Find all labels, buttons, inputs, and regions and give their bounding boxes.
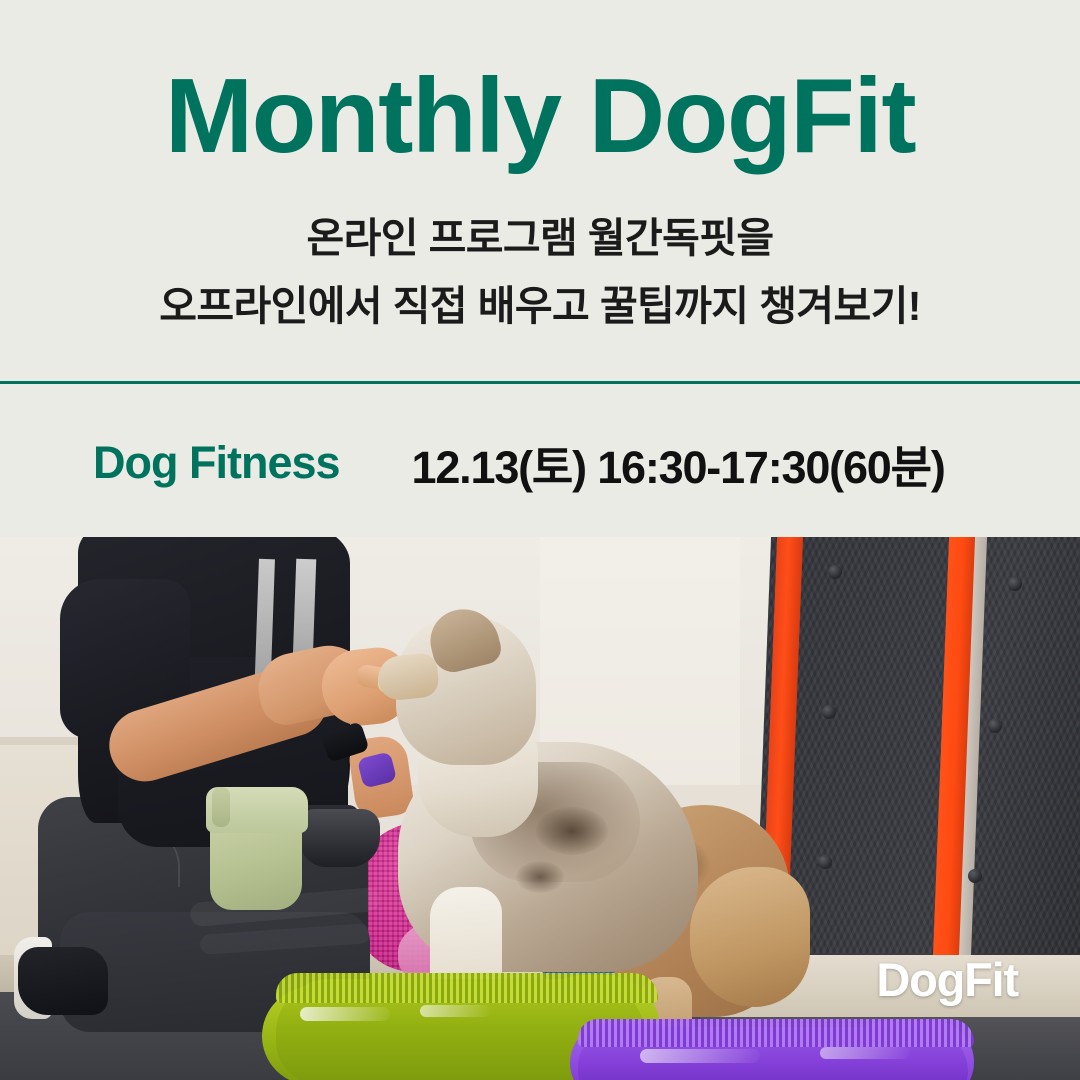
ramp-rivet [828, 565, 842, 579]
dark-bowl [300, 809, 380, 867]
green-pad-highlight [300, 1007, 390, 1021]
trainer-shoe [18, 947, 108, 1015]
dog-merle-marking [536, 807, 608, 855]
ramp-rivet [1008, 577, 1022, 591]
hero-photo: DogFit [0, 537, 1080, 1080]
dogfit-watermark-logo: DogFit [876, 952, 1018, 1007]
schedule-label: Dog Fitness [93, 437, 340, 489]
subtitle-line-1: 온라인 프로그램 월간독핏을 [0, 204, 1080, 272]
dog-tail-tip [690, 867, 810, 1007]
header-panel: Monthly DogFit 온라인 프로그램 월간독핏을 오프라인에서 직접 … [0, 0, 1080, 537]
ramp-rivet [968, 869, 982, 883]
treat-pouch-loop [212, 787, 230, 827]
green-balance-pad-texture [276, 973, 658, 1003]
subtitle-block: 온라인 프로그램 월간독핏을 오프라인에서 직접 배우고 꿀팁까지 챙겨보기! [0, 204, 1080, 340]
subtitle-line-2: 오프라인에서 직접 배우고 꿀팁까지 챙겨보기! [0, 272, 1080, 340]
section-divider [0, 381, 1080, 384]
dog-merle-marking [516, 861, 564, 893]
purple-pad-highlight [640, 1049, 760, 1063]
ramp-rivet [988, 719, 1002, 733]
ramp-rivet [822, 705, 836, 719]
schedule-row: Dog Fitness 12.13(토) 16:30-17:30(60분) [0, 432, 1080, 494]
purple-balance-pad-texture [578, 1019, 974, 1047]
poster-canvas: Monthly DogFit 온라인 프로그램 월간독핏을 오프라인에서 직접 … [0, 0, 1080, 1080]
purple-pad-highlight [820, 1047, 910, 1059]
green-pad-highlight [420, 1005, 490, 1017]
schedule-datetime: 12.13(토) 16:30-17:30(60분) [412, 431, 945, 496]
page-title: Monthly DogFit [0, 63, 1080, 169]
ramp-rivet [818, 855, 832, 869]
